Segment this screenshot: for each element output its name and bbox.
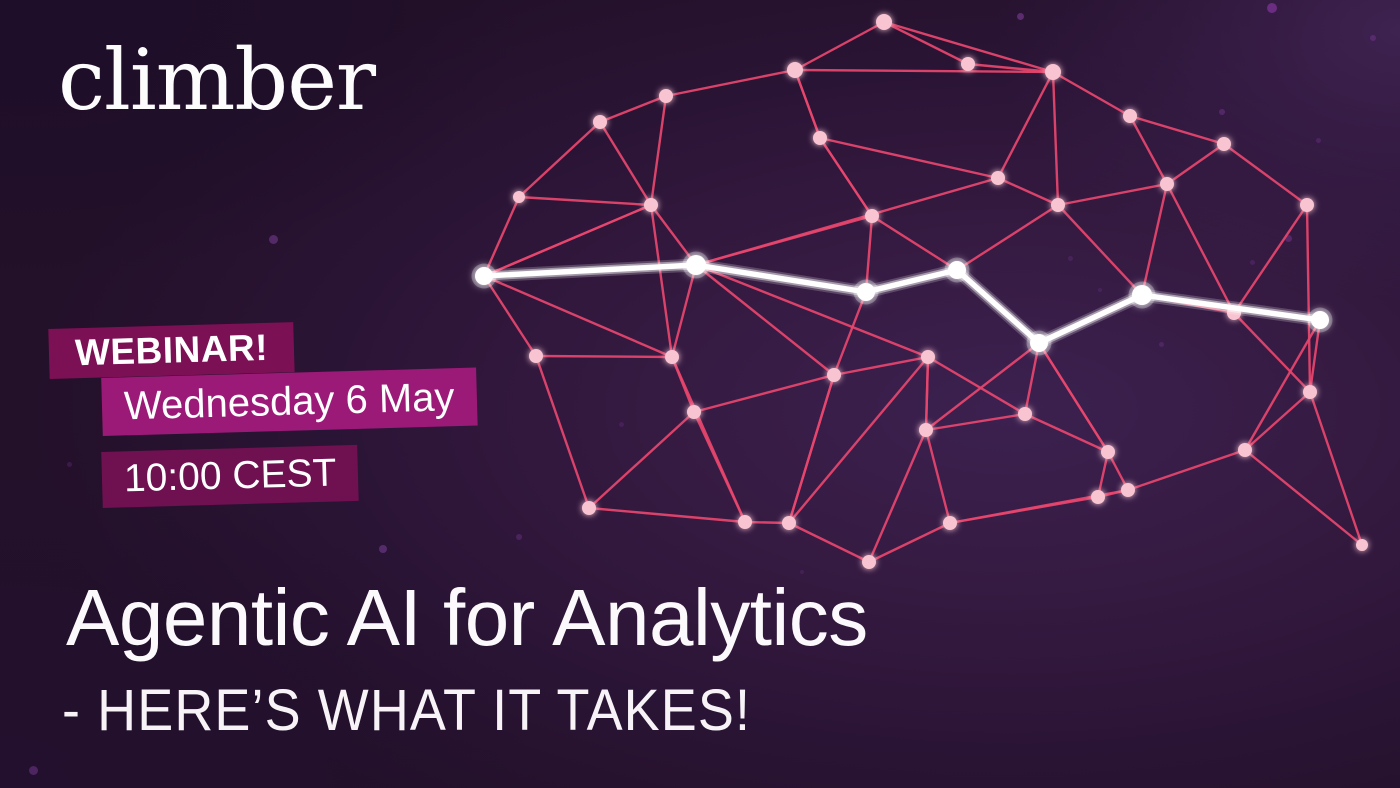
mesh-edge: [672, 265, 696, 357]
mesh-node: [862, 555, 876, 569]
mesh-node: [1101, 445, 1115, 459]
mesh-node: [827, 368, 841, 382]
mesh-edge: [795, 70, 820, 138]
mesh-edge: [789, 523, 869, 562]
mesh-edge-group: [484, 22, 1362, 562]
mesh-node: [991, 171, 1005, 185]
mesh-node: [1121, 483, 1135, 497]
mesh-edge: [672, 357, 745, 522]
mesh-edge: [1234, 205, 1307, 313]
mesh-edge: [789, 375, 834, 523]
mesh-node: [1051, 198, 1065, 212]
mesh-edge: [795, 22, 884, 70]
highlight-node: [1132, 285, 1152, 305]
mesh-edge: [869, 523, 950, 562]
mesh-edge: [1058, 205, 1142, 295]
mesh-edge: [1245, 392, 1310, 450]
badge-date-label: Wednesday 6 May: [123, 375, 455, 429]
mesh-node: [593, 115, 607, 129]
mesh-node: [659, 89, 673, 103]
mesh-edge: [998, 178, 1058, 205]
mesh-edge: [600, 96, 666, 122]
badge-date: Wednesday 6 May: [101, 368, 477, 436]
highlight-node: [857, 283, 875, 301]
page-subtitle: - HERE’S WHAT IT TAKES!: [62, 682, 751, 740]
mesh-node: [1300, 198, 1314, 212]
mesh-edge: [820, 138, 872, 216]
mesh-node: [1160, 177, 1174, 191]
mesh-node: [782, 516, 796, 530]
mesh-node: [876, 14, 892, 30]
mesh-node: [644, 198, 658, 212]
mesh-edge: [589, 412, 694, 508]
mesh-edge: [1310, 392, 1362, 545]
mesh-node: [919, 423, 933, 437]
mesh-node: [787, 62, 803, 78]
webinar-banner: climber WEBINAR! Wednesday 6 May 10:00 C…: [0, 0, 1400, 788]
mesh-edge: [651, 96, 666, 205]
mesh-node: [1356, 539, 1368, 551]
mesh-edge: [1224, 144, 1307, 205]
mesh-edge: [1128, 450, 1245, 490]
mesh-node: [1091, 490, 1105, 504]
mesh-node: [865, 209, 879, 223]
badge-time-label: 10:00 CEST: [123, 451, 337, 501]
highlight-node: [1030, 334, 1048, 352]
mesh-node: [665, 350, 679, 364]
mesh-edge: [795, 70, 1053, 72]
mesh-edge: [820, 138, 998, 178]
mesh-node: [687, 405, 701, 419]
highlight-node: [475, 267, 493, 285]
mesh-edge: [926, 430, 950, 523]
mesh-node: [1045, 64, 1061, 80]
mesh-edge: [1053, 72, 1058, 205]
mesh-edge: [834, 292, 866, 375]
mesh-node: [582, 501, 596, 515]
mesh-edge: [1234, 313, 1310, 392]
mesh-edge: [589, 508, 745, 522]
climber-logo[interactable]: climber: [58, 38, 375, 122]
mesh-edge: [1307, 205, 1310, 392]
mesh-node: [1217, 137, 1231, 151]
mesh-edge: [1058, 184, 1167, 205]
highlight-node: [948, 261, 966, 279]
mesh-node: [943, 516, 957, 530]
mesh-edge: [519, 197, 651, 205]
mesh-edge: [1245, 450, 1362, 545]
mesh-node: [921, 350, 935, 364]
mesh-edge: [926, 414, 1025, 430]
mesh-edge: [536, 356, 589, 508]
mesh-edge: [484, 276, 672, 357]
mesh-edge: [869, 430, 926, 562]
page-title: Agentic AI for Analytics: [66, 578, 868, 658]
mesh-node: [1303, 385, 1317, 399]
mesh-edge: [519, 122, 600, 197]
mesh-edge: [1167, 144, 1224, 184]
mesh-node: [961, 57, 975, 71]
mesh-edge: [536, 356, 672, 357]
mesh-node: [529, 349, 543, 363]
mesh-node: [738, 515, 752, 529]
mesh-edge: [998, 72, 1053, 178]
mesh-node: [813, 131, 827, 145]
badge-webinar-label: WEBINAR!: [74, 327, 268, 374]
highlight-node: [686, 255, 706, 275]
mesh-node: [1123, 109, 1137, 123]
mesh-edge: [957, 205, 1058, 270]
mesh-node: [513, 191, 525, 203]
badge-time: 10:00 CEST: [101, 445, 359, 508]
mesh-edge: [872, 216, 957, 270]
mesh-node: [1018, 407, 1032, 421]
badge-webinar: WEBINAR!: [48, 322, 294, 379]
mesh-edge: [1053, 72, 1130, 116]
mesh-edge: [694, 375, 834, 412]
mesh-edge: [696, 216, 872, 265]
mesh-edge: [666, 70, 795, 96]
mesh-edge: [926, 357, 928, 430]
highlight-node: [1311, 311, 1329, 329]
mesh-edge: [600, 122, 651, 205]
mesh-node: [1238, 443, 1252, 457]
mesh-edge: [1142, 184, 1167, 295]
